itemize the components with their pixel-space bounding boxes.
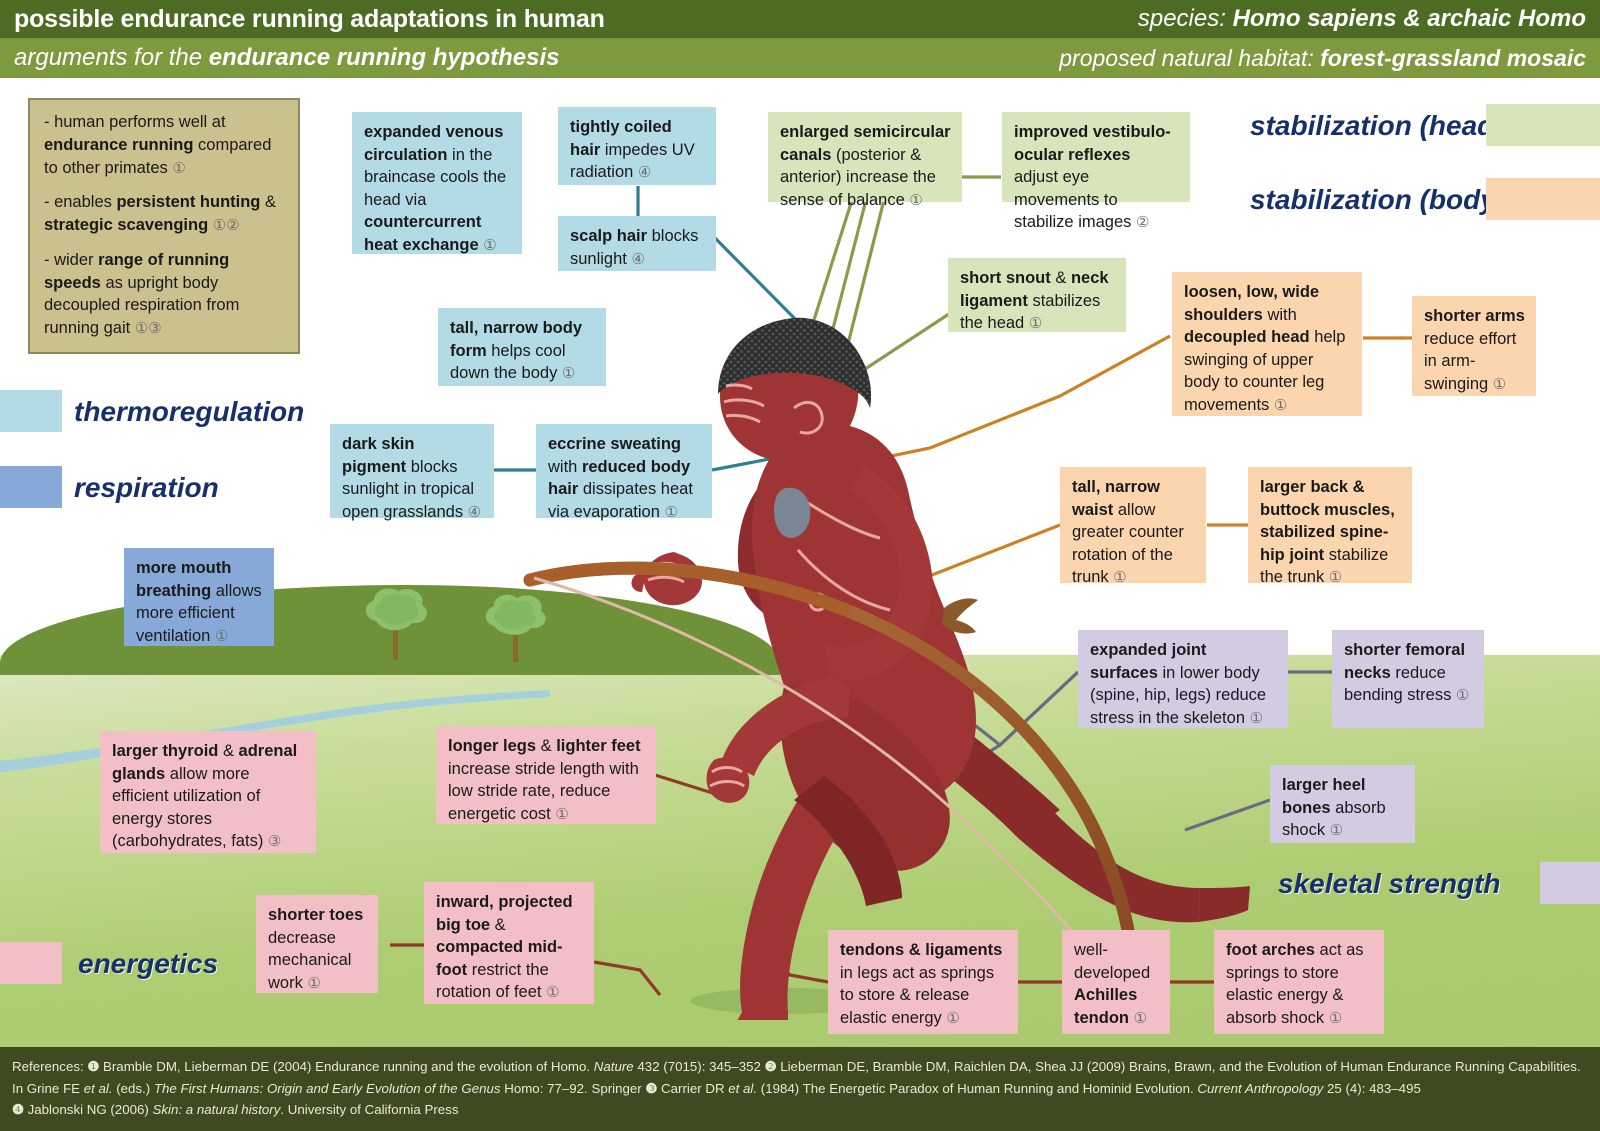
callout-tightly-coiled-hair: tightly coiled hair impedes UV radiation… <box>558 107 716 185</box>
callout-21-t1: in legs act as springs to store & releas… <box>840 964 994 1027</box>
callout-inward-projected-big-toe: inward, projected big toe & compacted mi… <box>424 882 594 1004</box>
reference-3-text-c: 25 (4): 483–495 <box>1323 1081 1421 1096</box>
callout-tall-narrow-body-form: tall, narrow body form helps cool down t… <box>438 308 606 386</box>
callout-10-refs: ① <box>1274 397 1287 414</box>
species-prefix: species: <box>1138 5 1233 32</box>
header-secondary: arguments for the endurance running hypo… <box>0 38 1600 78</box>
callout-18-t1: & <box>536 737 556 755</box>
argument-3-text-a: - wider <box>44 251 98 269</box>
callout-scalp-hair: scalp hair blocks sunlight ④ <box>558 216 716 271</box>
callout-5-t1: with <box>548 458 582 476</box>
argument-2: - enables persistent hunting & strategic… <box>44 191 286 237</box>
callout-0-refs: ① <box>483 237 496 254</box>
reference-1-number: ❶ <box>87 1059 99 1074</box>
callout-18-t2: increase stride length with low stride r… <box>448 760 639 823</box>
callout-11-bold1: shorter arms <box>1424 307 1525 325</box>
habitat-label: proposed natural habitat: forest-grassla… <box>1059 45 1586 72</box>
infographic-canvas: possible endurance running adaptations i… <box>0 0 1600 1131</box>
species-value: Homo sapiens & archaic Homo <box>1233 5 1586 32</box>
callout-more-mouth-breathing: more mouth breathing allows more efficie… <box>124 548 274 646</box>
callout-shorter-arms: shorter arms reduce effort in arm-swingi… <box>1412 296 1536 396</box>
argument-1-bold: endurance running <box>44 136 193 154</box>
callout-10-t1: with <box>1263 306 1297 324</box>
reference-1-text-b: 432 (7015): 345–352 <box>634 1059 765 1074</box>
subtitle-prefix: arguments for the <box>14 44 209 71</box>
callout-5-refs: ① <box>665 504 678 521</box>
argument-3-refs: ①③ <box>135 320 162 337</box>
legend-label-skeletal-strength: skeletal strength <box>1278 868 1501 900</box>
callout-13-refs: ① <box>1329 569 1342 586</box>
callout-8-t1: adjust eye movements to stabilize images <box>1014 168 1136 231</box>
callout-larger-back-buttock-muscles: larger back & buttock muscles, stabilize… <box>1248 467 1412 583</box>
callout-5-bold1: eccrine sweating <box>548 435 681 453</box>
callout-19-bold1: shorter toes <box>268 906 363 924</box>
callout-9-refs: ① <box>1029 315 1042 332</box>
reference-3-number: ❸ <box>645 1081 657 1096</box>
callout-15-refs: ① <box>1456 687 1469 704</box>
reference-2-italic-2: The First Humans: Origin and Early Evolu… <box>154 1081 501 1096</box>
legend-label-stabilization-head: stabilization (head) <box>1250 110 1504 142</box>
callout-17-refs: ③ <box>268 833 281 850</box>
callout-10-bold1: loosen, low, wide shoulders <box>1184 283 1319 324</box>
legend-swatch-stabilization-body <box>1486 178 1600 220</box>
callout-12-refs: ① <box>1113 569 1126 586</box>
legend-swatch-stabilization-head <box>1486 104 1600 146</box>
reference-3-text-a: Carrier DR <box>657 1081 728 1096</box>
reference-2-text-c: Homo: 77–92. Springer <box>501 1081 646 1096</box>
callout-larger-thyroid-adrenal-glands: larger thyroid & adrenal glands allow mo… <box>100 731 316 853</box>
reference-4-italic: Skin: a natural history <box>153 1102 281 1117</box>
callout-2-refs: ④ <box>631 251 644 268</box>
legend-swatch-respiration <box>0 466 62 508</box>
callout-17-bold1: larger thyroid <box>112 742 218 760</box>
callout-4-bold1: dark skin pigment <box>342 435 414 476</box>
callout-6-refs: ① <box>215 628 228 645</box>
callout-18-bold2: lighter feet <box>556 737 640 755</box>
callout-18-refs: ① <box>555 806 568 823</box>
reference-4-text-a: Jablonski NG (2006) <box>24 1102 153 1117</box>
callout-tendons-ligaments: tendons & ligaments in legs act as sprin… <box>828 930 1018 1034</box>
reference-1-journal: Nature <box>594 1059 634 1074</box>
callout-22-bold2: Achilles tendon <box>1074 986 1137 1027</box>
callout-shorter-toes: shorter toes decrease mechanical work ① <box>256 895 378 993</box>
callout-18-bold1: longer legs <box>448 737 536 755</box>
legend-label-respiration: respiration <box>74 472 219 504</box>
callout-expanded-joint-surfaces: expanded joint surfaces in lower body (s… <box>1078 630 1288 728</box>
callout-foot-arches: foot arches act as springs to store elas… <box>1214 930 1384 1034</box>
callout-23-refs: ① <box>1329 1010 1342 1027</box>
reference-1-text-a: Bramble DM, Lieberman DE (2004) Enduranc… <box>99 1059 593 1074</box>
species-label: species: Homo sapiens & archaic Homo <box>1138 5 1586 33</box>
callout-11-refs: ① <box>1493 376 1506 393</box>
legend-swatch-energetics <box>0 942 62 984</box>
callout-shorter-femoral-necks: shorter femoral necks reduce bending str… <box>1332 630 1484 728</box>
callout-short-snout-neck-ligament: short snout & neck ligament stabilizes t… <box>948 258 1126 332</box>
callout-8-bold1: improved vestibulo-ocular reflexes <box>1014 123 1171 164</box>
legend-swatch-thermoregulation <box>0 390 62 432</box>
argument-1-text-a: - human performs well at <box>44 113 226 131</box>
callout-achilles-tendon: well-developed Achilles tendon ① <box>1062 930 1170 1034</box>
legend-swatch-skeletal-strength <box>1540 862 1600 904</box>
reference-2-number: ❷ <box>765 1059 777 1074</box>
callout-4-refs: ④ <box>468 504 481 521</box>
callout-22-refs: ① <box>1134 1010 1147 1027</box>
arguments-box: - human performs well at endurance runni… <box>28 98 300 354</box>
callout-9-bold1: short snout <box>960 269 1051 287</box>
callout-10-bold2: decoupled head <box>1184 328 1310 346</box>
callout-tall-narrow-waist: tall, narrow waist allow greater counter… <box>1060 467 1206 583</box>
callout-1-refs: ④ <box>638 164 651 181</box>
callout-7-refs: ① <box>909 192 922 209</box>
header-primary: possible endurance running adaptations i… <box>0 0 1600 38</box>
callout-dark-skin-pigment: dark skin pigment blocks sunlight in tro… <box>330 424 494 518</box>
page-title: possible endurance running adaptations i… <box>14 5 605 34</box>
callout-2-bold1: scalp hair <box>570 227 647 245</box>
subtitle-value: endurance running hypothesis <box>209 44 560 71</box>
callout-longer-legs-lighter-feet: longer legs & lighter feet increase stri… <box>436 726 656 824</box>
argument-2-bold-1: persistent hunting <box>116 193 260 211</box>
argument-1: - human performs well at endurance runni… <box>44 111 286 179</box>
callout-20-t1: & <box>490 916 506 934</box>
callout-14-refs: ① <box>1250 710 1263 727</box>
reference-3-text-b: (1984) The Energetic Paradox of Human Ru… <box>757 1081 1197 1096</box>
callout-expanded-venous-circulation: expanded venous circulation in the brain… <box>352 112 522 254</box>
callout-22-t1: well-developed <box>1074 941 1150 982</box>
callout-23-bold1: foot arches <box>1226 941 1315 959</box>
reference-4-number: ❹ <box>12 1102 24 1117</box>
callout-21-refs: ① <box>946 1010 959 1027</box>
callout-8-refs: ② <box>1136 214 1149 231</box>
references-prefix: References: <box>12 1059 87 1074</box>
reference-3-italic-1: et al. <box>728 1081 757 1096</box>
habitat-value: forest-grassland mosaic <box>1320 45 1586 71</box>
legend-label-stabilization-body: stabilization (body) <box>1250 184 1505 216</box>
callout-improved-vestibulo-ocular-reflexes: improved vestibulo-ocular reflexes adjus… <box>1002 112 1190 202</box>
callout-21-bold1: tendons & ligaments <box>840 941 1002 959</box>
reference-2-italic-1: et al. <box>84 1081 113 1096</box>
argument-3: - wider range of running speeds as uprig… <box>44 249 286 340</box>
callout-9-t1: & <box>1051 269 1071 287</box>
reference-4-text-b: . University of California Press <box>280 1102 458 1117</box>
callout-19-refs: ① <box>307 975 320 992</box>
callout-20-refs: ① <box>546 984 559 1001</box>
callout-loosen-low-wide-shoulders: loosen, low, wide shoulders with decoupl… <box>1172 272 1362 416</box>
page-subtitle: arguments for the endurance running hypo… <box>14 44 559 72</box>
callout-17-t1: & <box>218 742 238 760</box>
argument-2-text-c: & <box>260 193 276 211</box>
argument-1-refs: ① <box>172 160 185 177</box>
habitat-prefix: proposed natural habitat: <box>1059 45 1320 71</box>
callout-3-refs: ① <box>562 365 575 382</box>
callout-enlarged-semicircular-canals: enlarged semicircular canals (posterior … <box>768 112 962 202</box>
callout-larger-heel-bones: larger heel bones absorb shock ① <box>1270 765 1415 843</box>
reference-2-text-b: (eds.) <box>113 1081 154 1096</box>
reference-3-journal: Current Anthropology <box>1197 1081 1323 1096</box>
legend-label-energetics: energetics <box>78 948 218 980</box>
argument-2-refs: ①② <box>213 217 240 234</box>
references-footer: References: ❶ Bramble DM, Lieberman DE (… <box>0 1047 1600 1131</box>
callout-0-bold2: countercurrent heat exchange <box>364 213 481 254</box>
legend-label-thermoregulation: thermoregulation <box>74 396 304 428</box>
argument-2-text-a: - enables <box>44 193 116 211</box>
callout-eccrine-sweating: eccrine sweating with reduced body hair … <box>536 424 712 518</box>
callout-16-refs: ① <box>1330 822 1343 839</box>
argument-2-bold-2: strategic scavenging <box>44 216 208 234</box>
